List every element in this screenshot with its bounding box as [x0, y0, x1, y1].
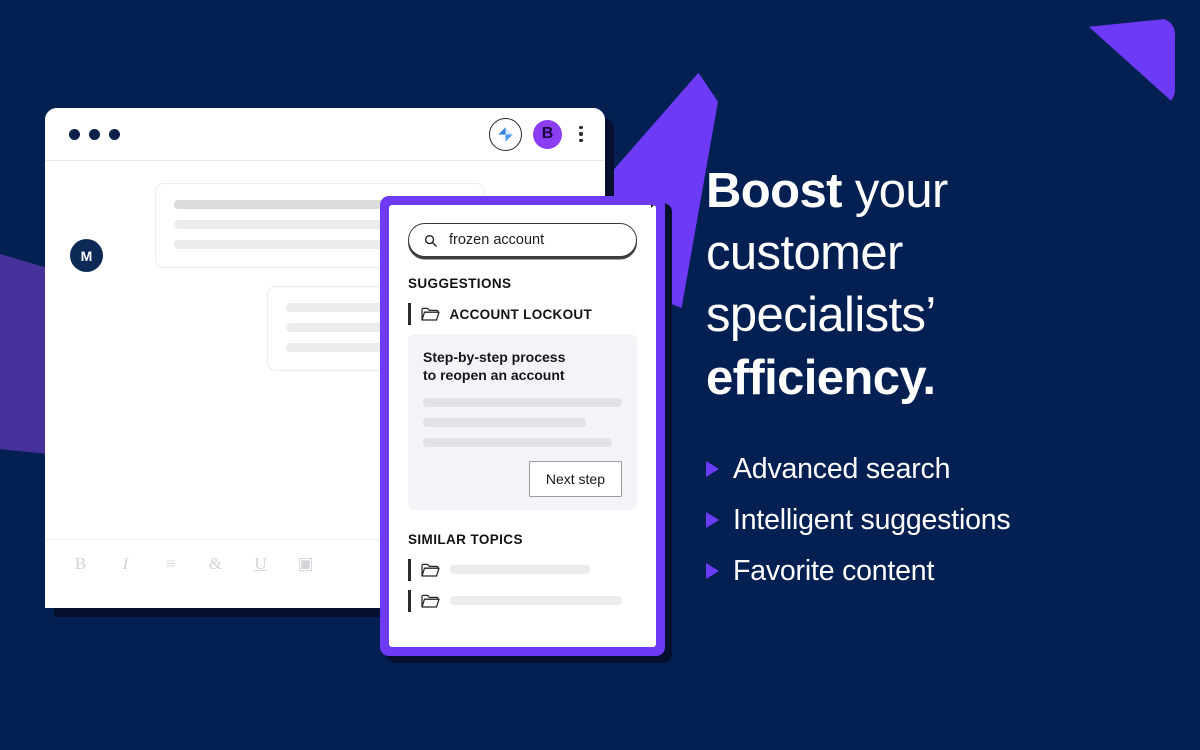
link-icon[interactable]: & [206, 554, 225, 573]
similar-topic-placeholder [450, 596, 622, 605]
suggestion-panel-body: frozen account SUGGESTIONS ACCOUNT LOCKO… [389, 205, 656, 647]
answer-title: Step-by-step process to reopen an accoun… [423, 348, 622, 385]
titlebar-actions: B [489, 118, 589, 151]
marketing-copy: Boost your customer specialists’ efficie… [706, 160, 1176, 606]
italic-icon[interactable]: I [116, 554, 135, 573]
kebab-menu-icon[interactable] [573, 123, 589, 145]
folder-icon [421, 306, 440, 322]
suggestion-topic-label: ACCOUNT LOCKOUT [450, 307, 593, 322]
suggestion-panel: frozen account SUGGESTIONS ACCOUNT LOCKO… [380, 196, 665, 656]
headline-line4-bold: efficiency. [706, 351, 935, 405]
folder-icon [421, 593, 440, 609]
answer-actions: Next step [423, 461, 622, 497]
avatar[interactable]: B [533, 120, 562, 149]
window-controls[interactable] [69, 129, 120, 140]
answer-card[interactable]: Step-by-step process to reopen an accoun… [408, 334, 637, 510]
spark-logo-icon[interactable] [489, 118, 522, 151]
image-icon[interactable]: ▣ [296, 554, 315, 573]
headline-line2: customer [706, 226, 903, 280]
triangle-right-icon [706, 563, 719, 579]
page-title: Boost your customer specialists’ efficie… [706, 160, 1176, 409]
search-input-value: frozen account [449, 232, 544, 248]
headline-line3: specialists’ [706, 288, 936, 342]
list-item: Intelligent suggestions [706, 504, 1176, 537]
feature-label: Intelligent suggestions [733, 504, 1010, 537]
window-titlebar: B [45, 108, 605, 161]
suggestion-topic-row[interactable]: ACCOUNT LOCKOUT [408, 303, 637, 325]
search-icon [423, 233, 438, 248]
feature-list: Advanced search Intelligent suggestions … [706, 453, 1176, 588]
similar-topic-placeholder [450, 565, 590, 574]
similar-topic-row[interactable] [408, 590, 637, 612]
list-icon[interactable]: ≡ [161, 554, 180, 573]
window-dot[interactable] [69, 129, 80, 140]
folder-icon [421, 562, 440, 578]
decorative-triangle-top-right [1087, 18, 1175, 106]
triangle-right-icon [706, 512, 719, 528]
next-step-button[interactable]: Next step [529, 461, 622, 497]
headline-line1-rest: your [842, 164, 948, 218]
similar-topics-heading: SIMILAR TOPICS [408, 532, 637, 547]
topic-accent-bar [408, 559, 411, 581]
avatar: M [70, 239, 103, 272]
promo-banner: B M B I ≡ & U [0, 0, 1200, 750]
similar-topic-row[interactable] [408, 559, 637, 581]
list-item: Advanced search [706, 453, 1176, 486]
headline-word-bold: Boost [706, 164, 842, 218]
topic-accent-bar [408, 303, 411, 325]
window-dot[interactable] [109, 129, 120, 140]
suggestions-heading: SUGGESTIONS [408, 276, 637, 291]
bold-icon[interactable]: B [71, 554, 90, 573]
underline-icon[interactable]: U [251, 554, 270, 573]
cursor-pointer-icon [651, 205, 656, 208]
feature-label: Advanced search [733, 453, 950, 486]
list-item: Favorite content [706, 555, 1176, 588]
triangle-right-icon [706, 461, 719, 477]
topic-accent-bar [408, 590, 411, 612]
search-input[interactable]: frozen account [408, 223, 637, 257]
window-dot[interactable] [89, 129, 100, 140]
feature-label: Favorite content [733, 555, 934, 588]
